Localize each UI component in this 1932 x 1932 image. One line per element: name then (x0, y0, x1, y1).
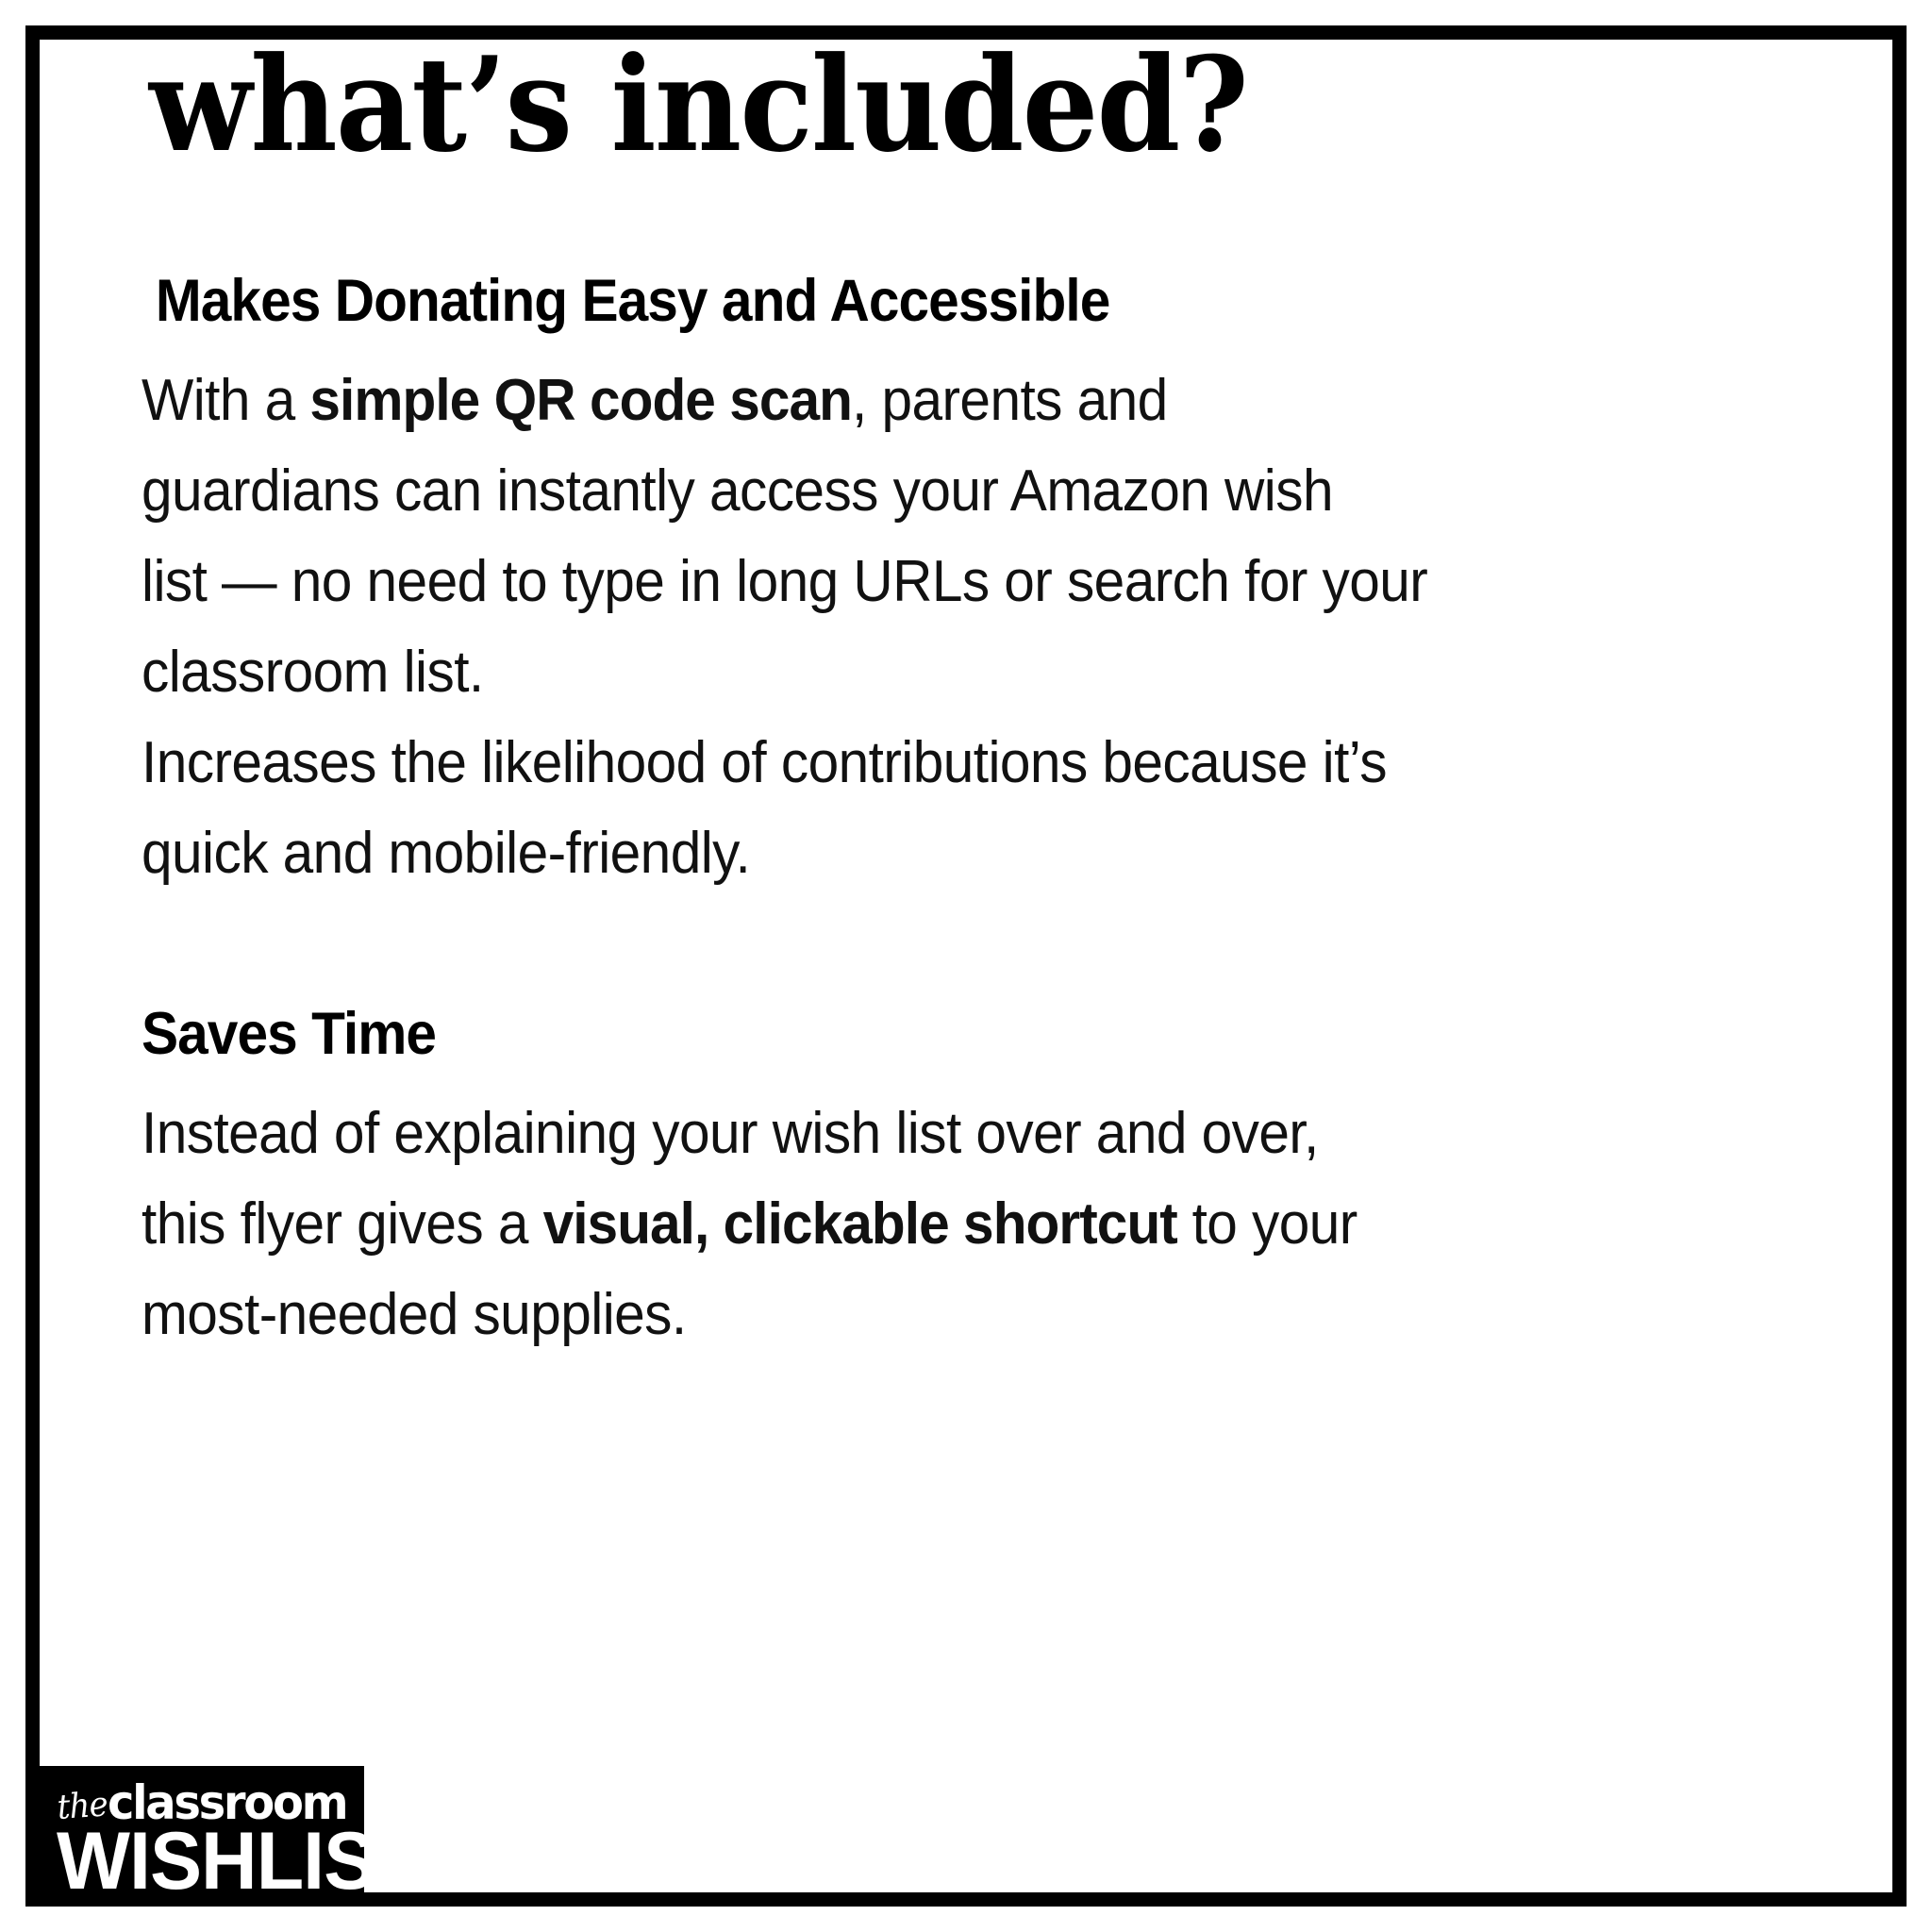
section-heading: Saves Time (142, 1005, 1668, 1064)
paragraph: Increases the likelihood of contribution… (142, 718, 1692, 899)
spacer (142, 331, 1783, 356)
text-line: Instead of explaining your wish list ove… (142, 1089, 1692, 1179)
text-run: With a (142, 368, 309, 433)
body-sections: Makes Donating Easy and Accessible With … (142, 272, 1783, 1360)
section-saves-time: Saves Time Instead of explaining your wi… (142, 1005, 1783, 1360)
text-line: most-needed supplies. (142, 1270, 1692, 1360)
text-line: list — no need to type in long URLs or s… (142, 537, 1692, 627)
text-run: , parents and (852, 368, 1168, 433)
text-run: to your (1177, 1191, 1357, 1257)
text-line: Increases the likelihood of contribution… (142, 718, 1692, 808)
text-run-bold: visual, clickable shortcut (543, 1191, 1177, 1257)
section-spacer (142, 899, 1783, 1005)
spacer (142, 1064, 1783, 1089)
text-line: classroom list. (142, 627, 1692, 718)
section-heading: Makes Donating Easy and Accessible (142, 272, 1668, 331)
text-line: quick and mobile-friendly. (142, 808, 1692, 899)
flyer-page: what’s included? Makes Donating Easy and… (0, 0, 1932, 1932)
brand-logo: the classroom WISHLIST (36, 1766, 364, 1907)
text-line: guardians can instantly access your Amaz… (142, 446, 1692, 537)
text-run-bold: simple QR code scan (309, 368, 852, 433)
section-makes-donating-easy: Makes Donating Easy and Accessible With … (142, 272, 1783, 899)
text-line: With a simple QR code scan, parents and (142, 356, 1692, 446)
flyer-content: what’s included? Makes Donating Easy and… (142, 40, 1896, 1360)
logo-wishlist-word: WISHLIST (57, 1821, 364, 1902)
text-line: this flyer gives a visual, clickable sho… (142, 1179, 1692, 1270)
text-run: this flyer gives a (142, 1191, 543, 1257)
page-title: what’s included? (149, 40, 1757, 170)
paragraph: With a simple QR code scan, parents and … (142, 356, 1692, 718)
paragraph: Instead of explaining your wish list ove… (142, 1089, 1692, 1360)
